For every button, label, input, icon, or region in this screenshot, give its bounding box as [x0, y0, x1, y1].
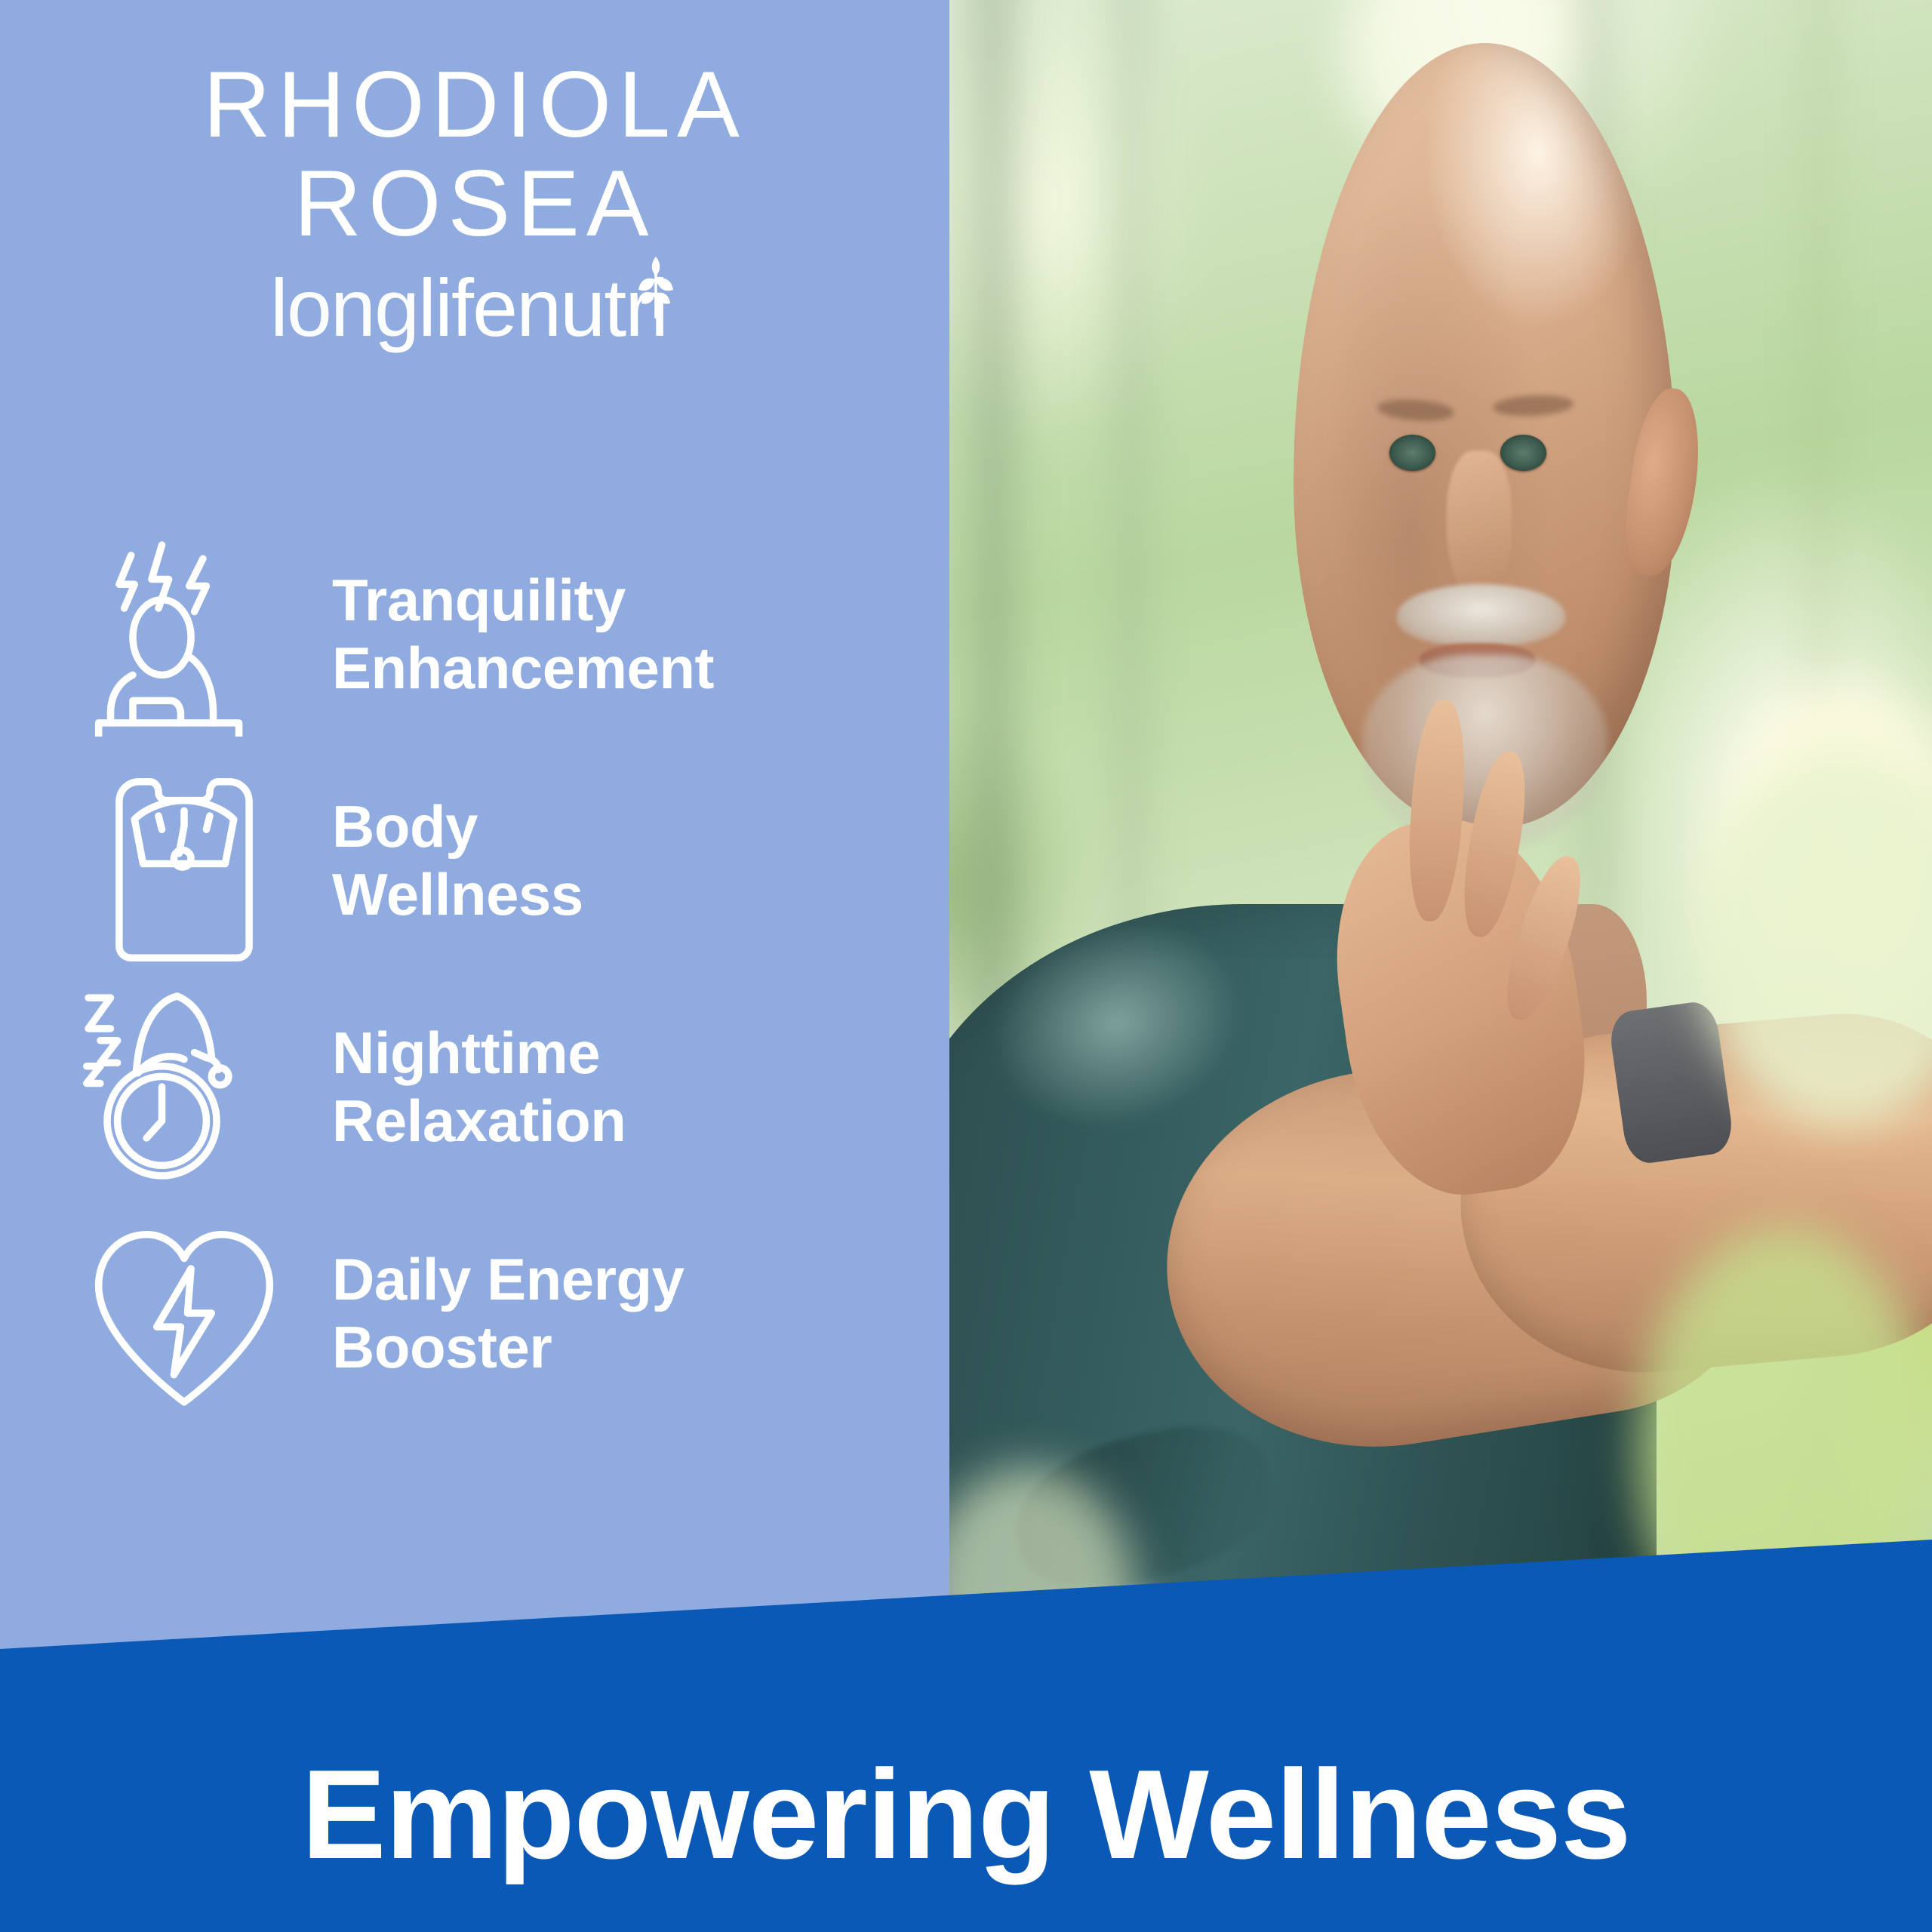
heart-bolt-icon: [82, 1211, 287, 1416]
eye-left: [1389, 435, 1435, 471]
promo-poster: RHODIOLA ROSEA longlifenutri: [0, 0, 1932, 1932]
page-title: RHODIOLA ROSEA: [0, 56, 949, 254]
benefit-label: Nighttime Relaxation: [332, 1019, 626, 1155]
benefit-label: Daily Energy Booster: [332, 1245, 685, 1382]
benefit-item-body-wellness: Body Wellness: [0, 747, 949, 974]
brand-name-light: long: [270, 267, 418, 349]
weight-scale-icon: [82, 758, 287, 963]
product-name-line-1: RHODIOLA: [0, 56, 949, 155]
stressed-person-icon: [82, 531, 287, 737]
moustache: [1397, 584, 1565, 647]
eye-right: [1500, 435, 1546, 471]
sleeping-clock-icon: [82, 984, 287, 1189]
benefits-list: Tranquility Enhancement Body Wellness: [0, 521, 949, 1426]
nose: [1447, 451, 1512, 600]
eyebrow-left: [1377, 397, 1455, 423]
ear: [1618, 384, 1709, 580]
benefit-label: Tranquility Enhancement: [332, 566, 714, 703]
benefit-item-tranquility: Tranquility Enhancement: [0, 521, 949, 747]
product-name-line-2: ROSEA: [0, 155, 949, 254]
benefit-item-nighttime: Nighttime Relaxation: [0, 974, 949, 1200]
tagline: Empowering Wellness: [0, 1751, 1932, 1878]
benefit-item-energy: Daily Energy Booster: [0, 1200, 949, 1426]
benefit-label: Body Wellness: [332, 792, 583, 929]
eyebrow-right: [1492, 394, 1574, 419]
brand-name-bold: lifenutri: [418, 267, 667, 349]
brand-logo: longlifenutri: [0, 257, 949, 359]
head: [1294, 43, 1677, 828]
info-panel: RHODIOLA ROSEA longlifenutri: [0, 0, 949, 1706]
leaf-icon: [632, 257, 679, 318]
hero-photo: [949, 0, 1932, 1706]
